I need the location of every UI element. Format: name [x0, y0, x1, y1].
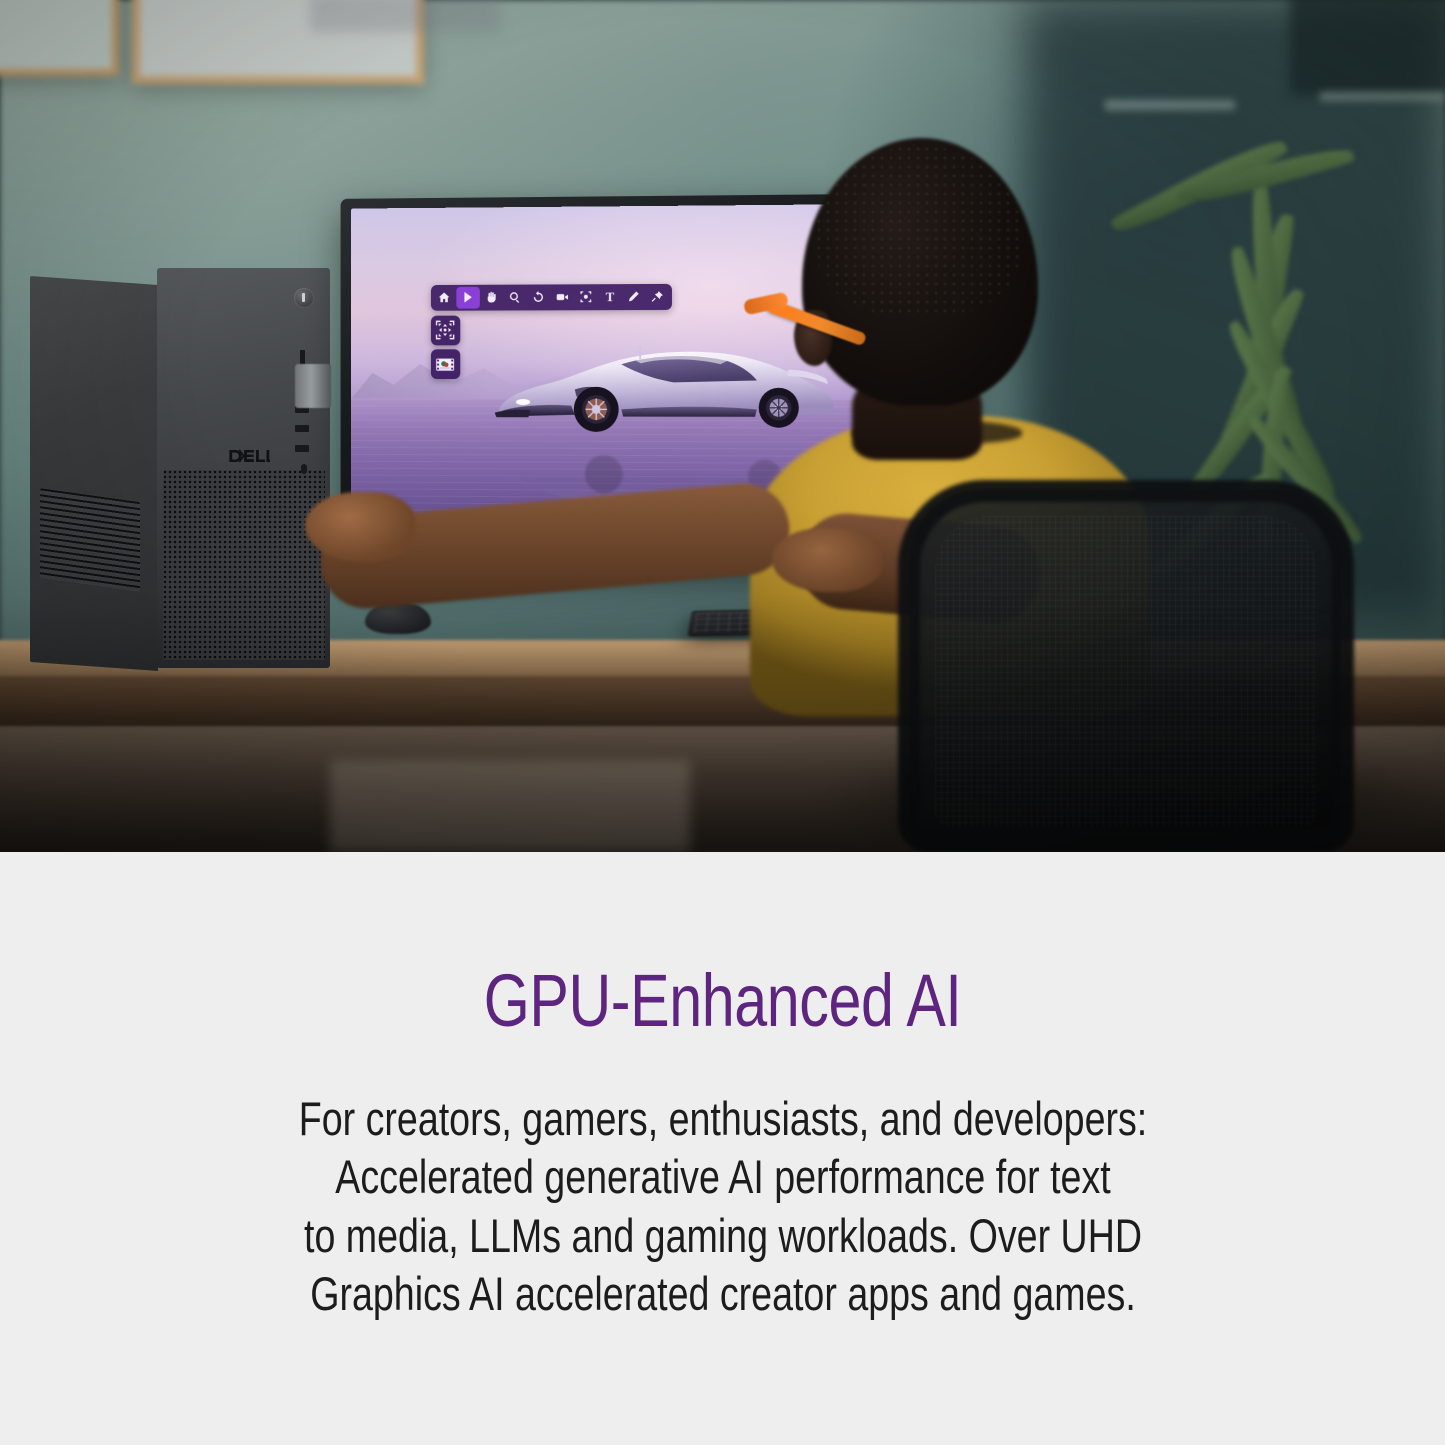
home-icon[interactable] [433, 287, 456, 309]
cursor-icon[interactable] [456, 286, 480, 308]
marquee-icon[interactable] [574, 286, 598, 308]
background-shelf-b [1320, 92, 1445, 101]
product-feature-card: T [0, 0, 1445, 1445]
tower-side-vents [40, 488, 140, 592]
feature-description: For creators, gamers, enthusiasts, and d… [207, 1090, 1239, 1323]
transform-panel-icon[interactable] [431, 315, 460, 345]
person-hair-texture [816, 146, 1022, 316]
hero-photo: T [0, 0, 1445, 852]
hand-icon[interactable] [480, 286, 504, 308]
dell-logo [228, 446, 270, 466]
feature-title: GPU-Enhanced AI [484, 964, 962, 1038]
brush-icon[interactable] [622, 286, 646, 308]
wall-picture-frame-right [132, 0, 424, 84]
power-icon [302, 293, 305, 302]
wall-picture-frame-left [0, 0, 119, 76]
text-icon[interactable]: T [598, 286, 622, 308]
background-shelf-a [1105, 100, 1235, 110]
office-chair [880, 480, 1380, 852]
media-panel-icon[interactable] [431, 349, 460, 379]
description-line-2: Accelerated generative AI performance fo… [207, 1148, 1239, 1206]
app-toolbar[interactable]: T [431, 284, 672, 311]
video-camera-icon[interactable] [551, 286, 575, 308]
usb-c-port[interactable] [301, 464, 307, 474]
dell-desktop-tower [30, 268, 330, 668]
desk-modesty-panel [330, 760, 690, 852]
pin-icon[interactable] [646, 286, 670, 308]
chair-frame [898, 480, 1354, 852]
description-line-3: to media, LLMs and gaming workloads. Ove… [207, 1207, 1239, 1265]
caption-panel: GPU-Enhanced AI For creators, gamers, en… [0, 852, 1445, 1445]
description-line-1: For creators, gamers, enthusiasts, and d… [207, 1090, 1239, 1148]
monitor-stand-neck [295, 364, 331, 408]
frame-artwork [310, 0, 500, 32]
tower-side-panel [30, 276, 158, 671]
search-icon[interactable] [503, 286, 527, 308]
tower-front-mesh-grille [163, 470, 325, 660]
rotate-icon[interactable] [527, 286, 551, 308]
description-line-4: Graphics AI accelerated creator apps and… [207, 1265, 1239, 1323]
background-cabinet [1290, 0, 1445, 95]
usb-port-3[interactable] [295, 445, 309, 452]
usb-port-2[interactable] [295, 425, 309, 432]
person-left-hand [305, 492, 415, 562]
person-right-hand [772, 528, 882, 592]
